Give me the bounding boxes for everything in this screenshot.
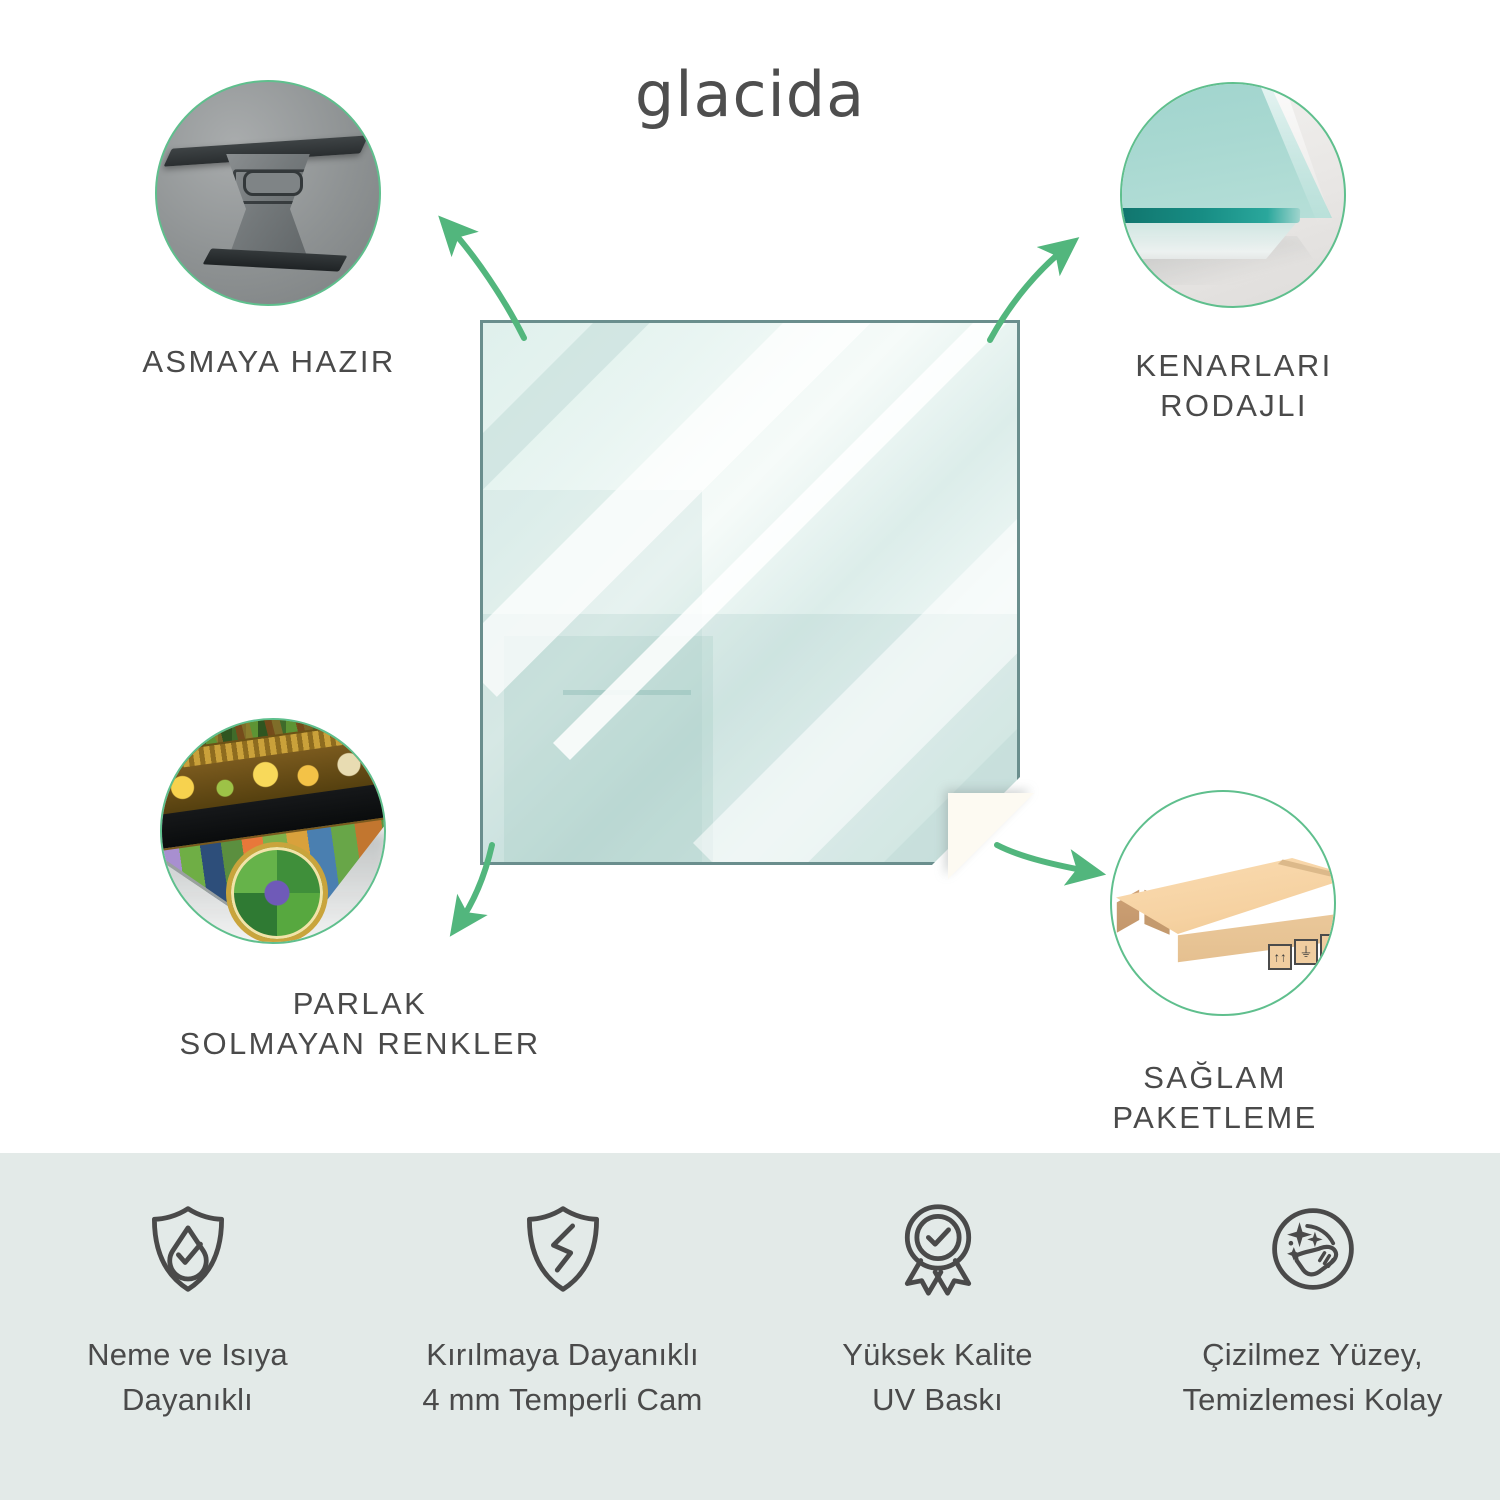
benefit-label-scratch-free: Çizilmez Yüzey, Temizlemesi Kolay	[1182, 1333, 1442, 1423]
product-glass-panel	[480, 320, 1020, 865]
keep-dry-icon: ☂	[1320, 934, 1336, 960]
caption-kenarlari-rodajli: KENARLARI RODAJLI	[1088, 346, 1380, 425]
packaging-box-image: ↑↑ ⏚ ☂	[1110, 790, 1336, 1016]
benefit-break-resistant: Kırılmaya Dayanıklı 4 mm Temperli Cam	[375, 1153, 750, 1423]
shield-droplet-check-icon	[140, 1201, 236, 1297]
glass-folded-corner	[930, 775, 1022, 867]
mount-base-plate	[203, 248, 348, 271]
glass-edge-underside	[1120, 223, 1296, 259]
mosaic-flower-medallion	[226, 842, 328, 944]
polished-edge-image	[1120, 82, 1346, 308]
folded-corner-flap	[948, 793, 1034, 879]
benefit-scratch-free: Çizilmez Yüzey, Temizlemesi Kolay	[1125, 1153, 1500, 1423]
this-way-up-icon: ↑↑	[1268, 944, 1292, 970]
mount-keyhole-slot	[243, 170, 303, 196]
glass-reflection-vertical-2	[504, 636, 712, 862]
feature-saglam-paketleme: ↑↑ ⏚ ☂ SAĞLAM PAKETLEME	[1110, 790, 1336, 1016]
infographic-canvas: glacida ASMAYA HAZIR KENARLARI RODAJLI	[0, 0, 1500, 1500]
hanger-mount-illustration	[157, 82, 379, 304]
feature-kenarlari-rodajli: KENARLARI RODAJLI	[1120, 82, 1346, 308]
fragile-icon: ⏚	[1294, 939, 1318, 965]
mosaic-artwork-image	[160, 718, 386, 944]
benefit-label-break-resistant: Kırılmaya Dayanıklı 4 mm Temperli Cam	[422, 1333, 702, 1423]
benefit-label-high-quality-uv: Yüksek Kalite UV Baskı	[842, 1333, 1032, 1423]
hanger-mount-image	[155, 80, 381, 306]
caption-asmaya-hazir: ASMAYA HAZIR	[107, 342, 431, 382]
sparkle-hand-clean-icon	[1265, 1201, 1361, 1297]
benefit-moisture-heat: Neme ve Isıya Dayanıklı	[0, 1153, 375, 1423]
caption-saglam-paketleme: SAĞLAM PAKETLEME	[1005, 1058, 1425, 1137]
benefit-high-quality-uv: Yüksek Kalite UV Baskı	[750, 1153, 1125, 1423]
cardboard-box-illustration: ↑↑ ⏚ ☂	[1112, 792, 1334, 1014]
benefit-label-moisture-heat: Neme ve Isıya Dayanıklı	[87, 1333, 288, 1423]
feature-asmaya-hazir: ASMAYA HAZIR	[155, 80, 381, 306]
benefits-bar: Neme ve Isıya Dayanıklı Kırılmaya Dayanı…	[0, 1153, 1500, 1500]
caption-parlak-solmayan-renkler: PARLAK SOLMAYAN RENKLER	[150, 984, 570, 1063]
feature-parlak-solmayan-renkler: PARLAK SOLMAYAN RENKLER	[160, 718, 386, 944]
glass-polished-edge-band	[1120, 208, 1300, 223]
shield-bolt-icon	[515, 1201, 611, 1297]
award-check-icon	[890, 1201, 986, 1297]
